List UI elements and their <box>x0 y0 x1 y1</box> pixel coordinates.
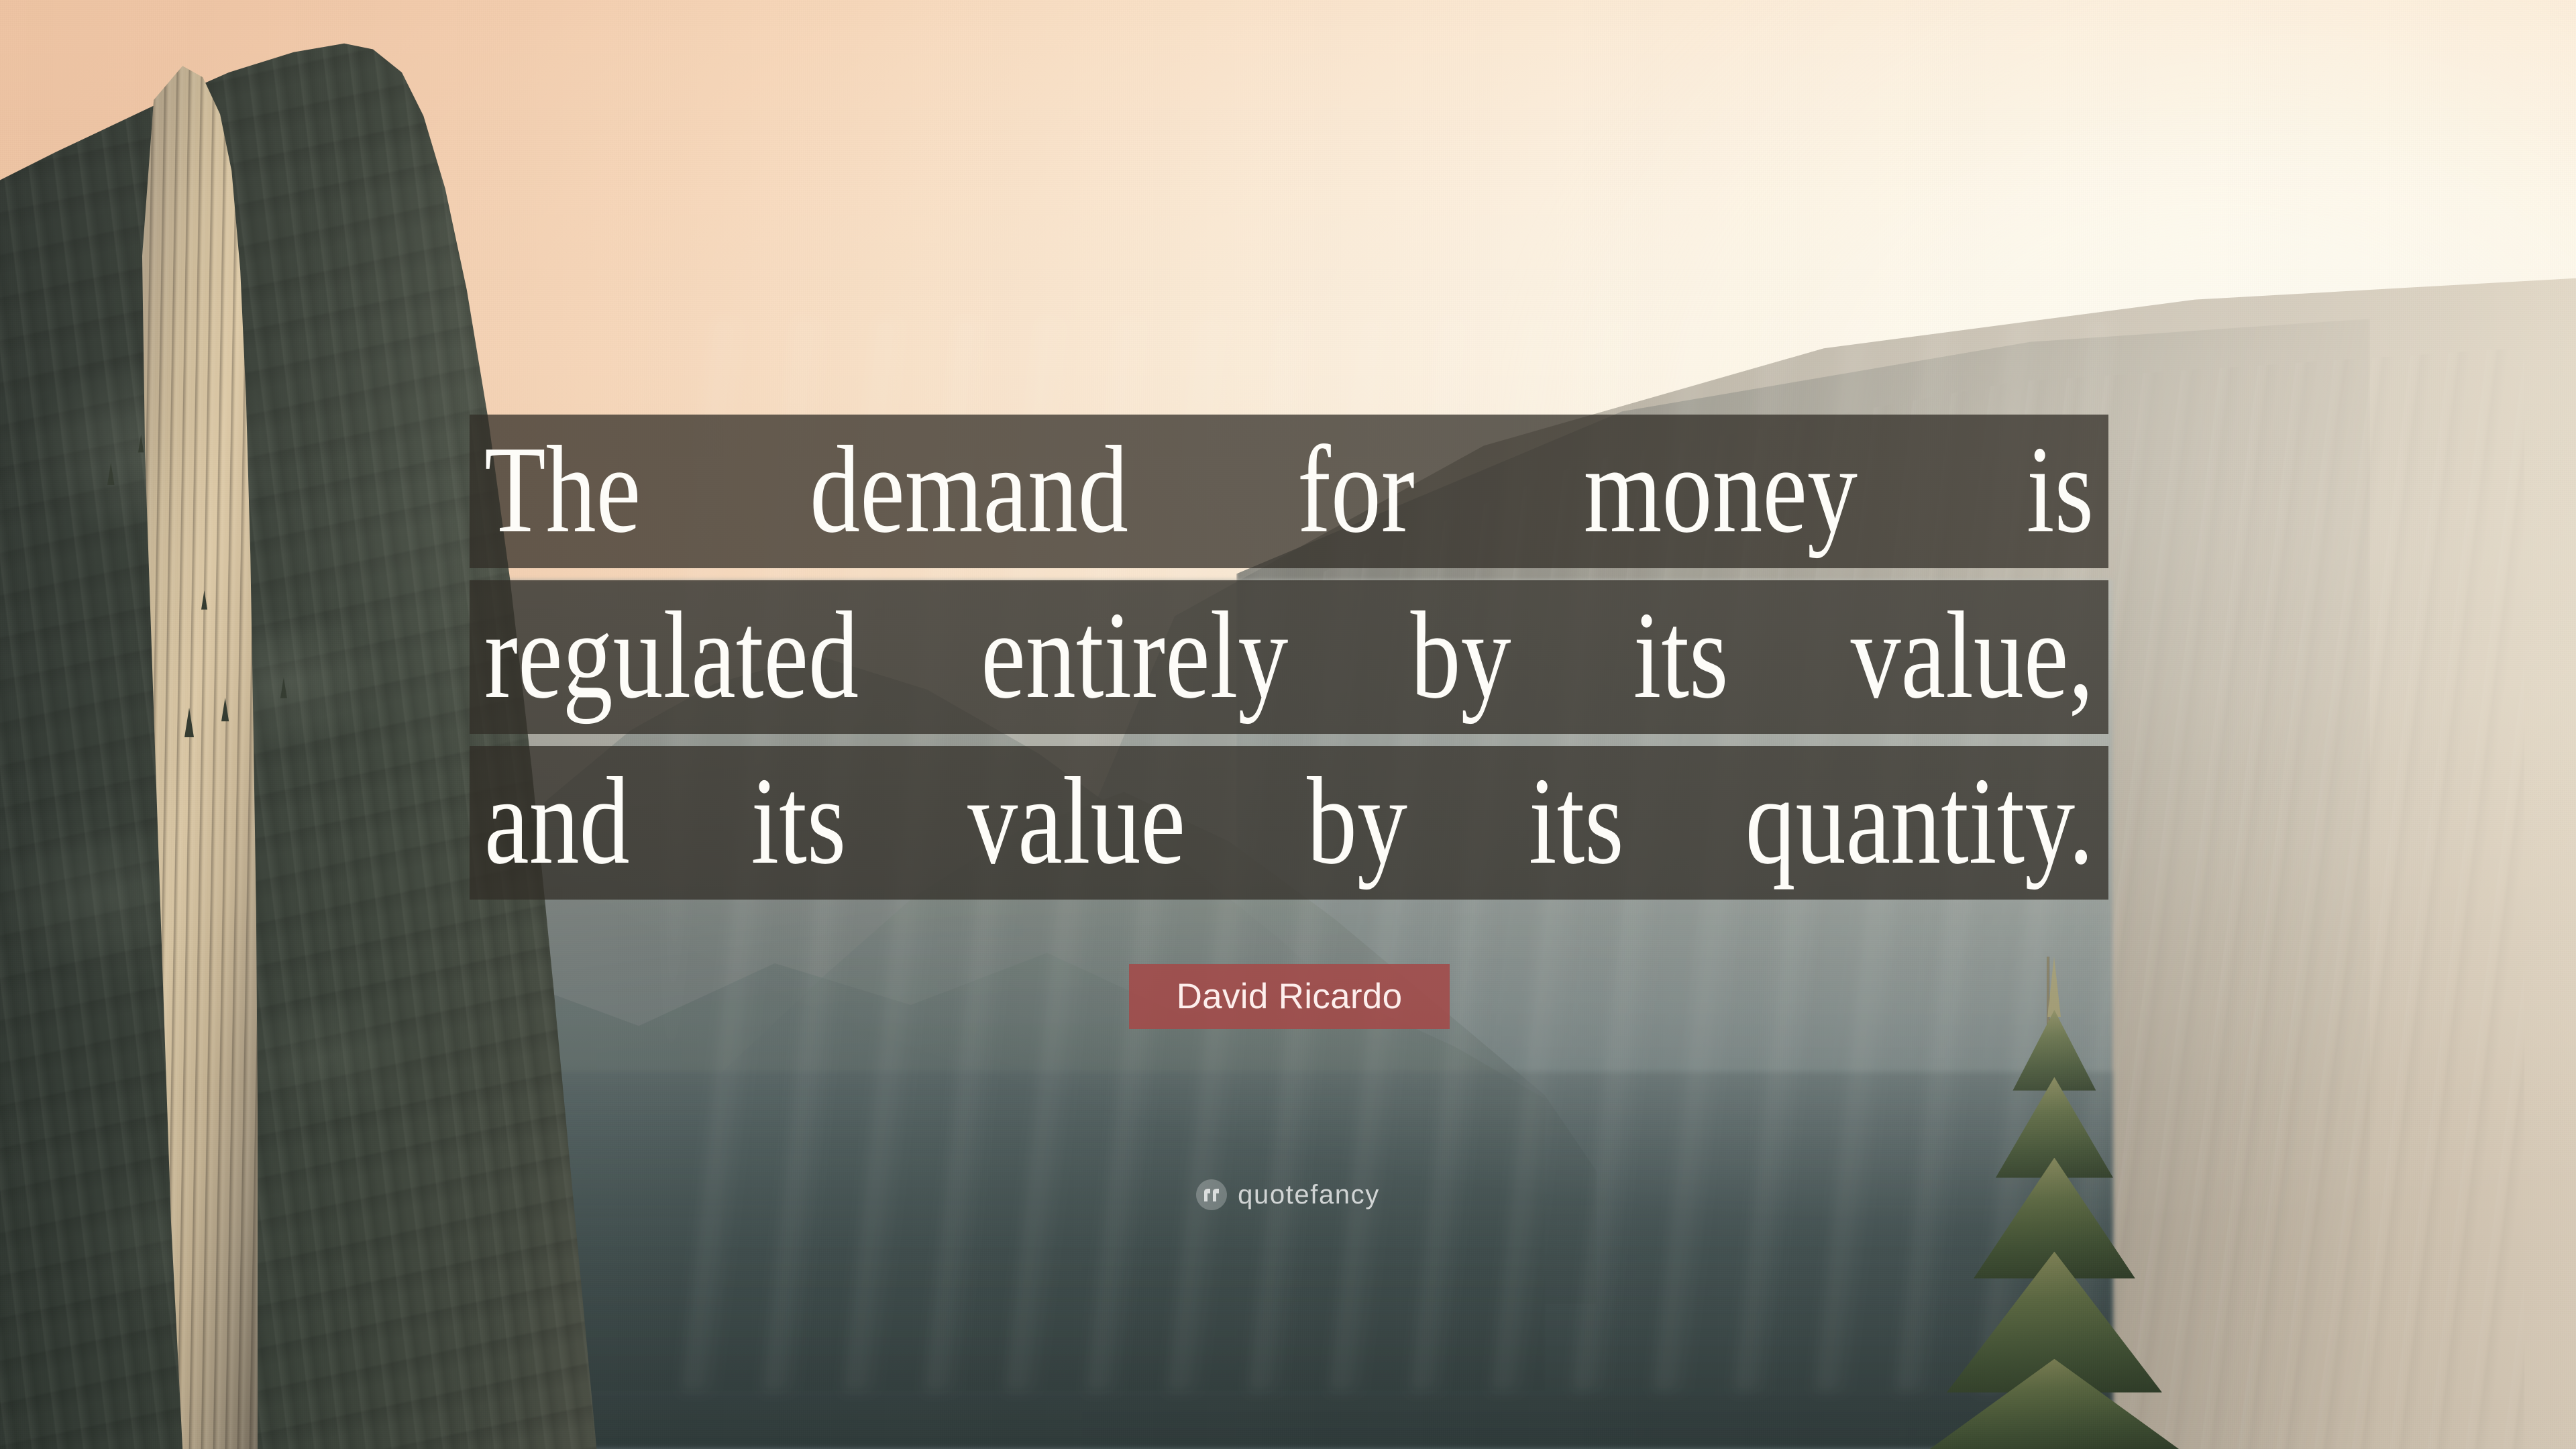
quote-word: is <box>2027 427 2094 552</box>
quote-word: demand <box>810 427 1128 552</box>
quote-poster: The demand for money is regulated entire… <box>0 0 2576 1449</box>
quote-word: money <box>1584 427 1858 552</box>
quote-line: and its value by its quantity. <box>470 746 2108 900</box>
quote-word: entirely <box>981 593 1288 718</box>
quote-word: its <box>751 759 847 883</box>
author-attribution-badge: David Ricardo <box>1129 964 1450 1029</box>
pine-apex <box>2047 957 2061 1017</box>
quote-word: quantity. <box>1746 759 2094 883</box>
quote-word: regulated <box>484 593 859 718</box>
quote-word: for <box>1297 427 1415 552</box>
quote-word: its <box>1529 759 1624 883</box>
quote-word: its <box>1633 593 1729 718</box>
quote-line: regulated entirely by its value, <box>470 580 2108 734</box>
quote-word: The <box>484 427 641 552</box>
quote-word: value, <box>1851 593 2094 718</box>
quote-line: The demand for money is <box>470 415 2108 568</box>
quote-text-block: The demand for money is regulated entire… <box>470 415 2108 900</box>
quote-word: by <box>1307 759 1407 883</box>
foreground-pine-tree <box>1932 957 2177 1449</box>
quote-word: and <box>484 759 630 883</box>
quote-word: value <box>967 759 1185 883</box>
quote-word: by <box>1411 593 1511 718</box>
